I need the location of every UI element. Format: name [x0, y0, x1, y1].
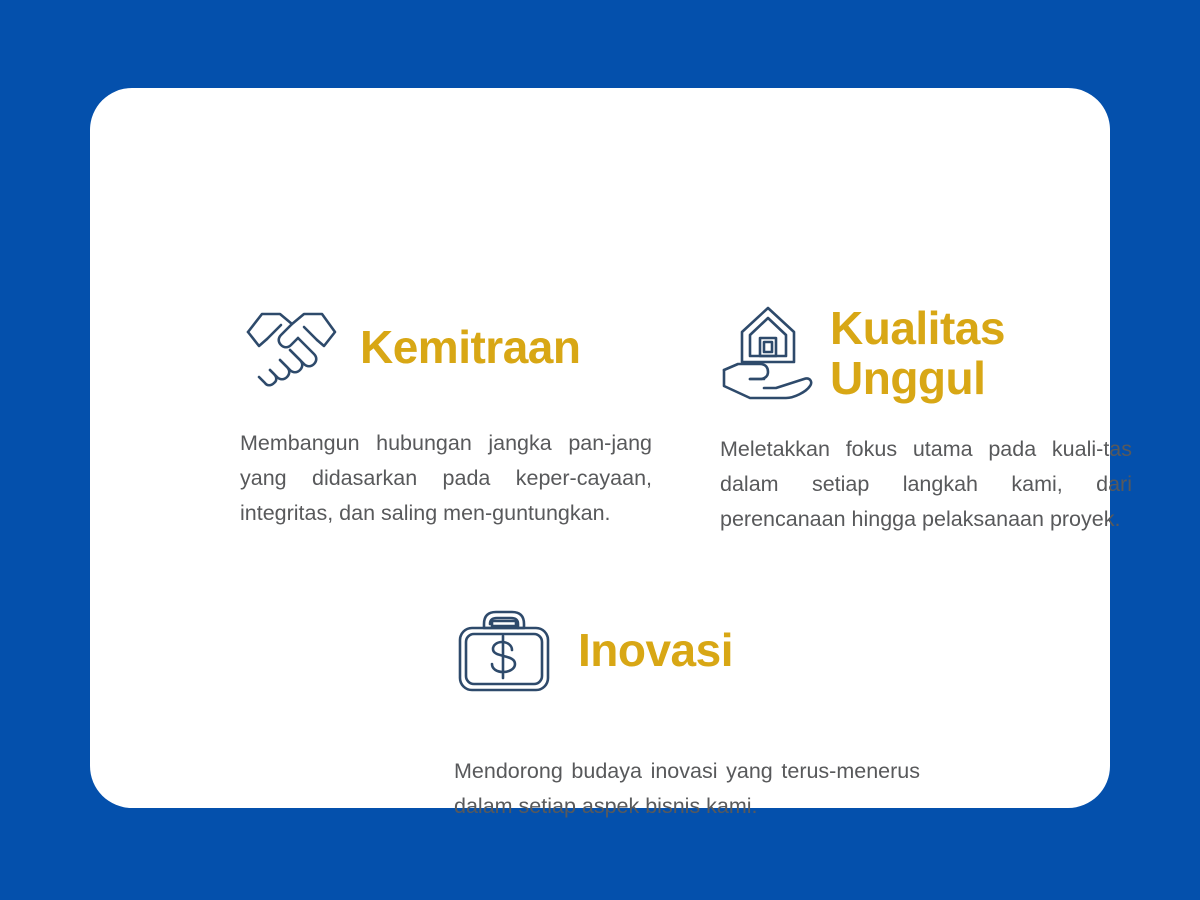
feature-quality-header: Kualitas Unggul [720, 302, 1140, 406]
feature-partnership-header: Kemitraan [240, 302, 660, 394]
feature-partnership: Kemitraan Membangun hubungan jangka pan-… [240, 302, 660, 530]
feature-innovation-title: Inovasi [578, 626, 733, 676]
feature-quality-body: Meletakkan fokus utama pada kuali-tas da… [720, 432, 1132, 536]
feature-partnership-title: Kemitraan [360, 323, 580, 373]
slide-background: Kemitraan Membangun hubungan jangka pan-… [0, 0, 1200, 900]
feature-innovation: Inovasi Mendorong budaya inovasi yang te… [454, 604, 924, 824]
house-in-hand-icon [720, 302, 816, 406]
handshake-icon [240, 302, 342, 394]
feature-partnership-body: Membangun hubungan jangka pan-jang yang … [240, 426, 652, 530]
feature-quality-title: Kualitas Unggul [830, 304, 1005, 403]
feature-quality: Kualitas Unggul Meletakkan fokus utama p… [720, 302, 1140, 536]
briefcase-dollar-icon [454, 604, 554, 698]
feature-innovation-header: Inovasi [454, 604, 924, 698]
feature-innovation-body: Mendorong budaya inovasi yang terus-mene… [454, 754, 920, 824]
content-card: Kemitraan Membangun hubungan jangka pan-… [90, 88, 1110, 808]
